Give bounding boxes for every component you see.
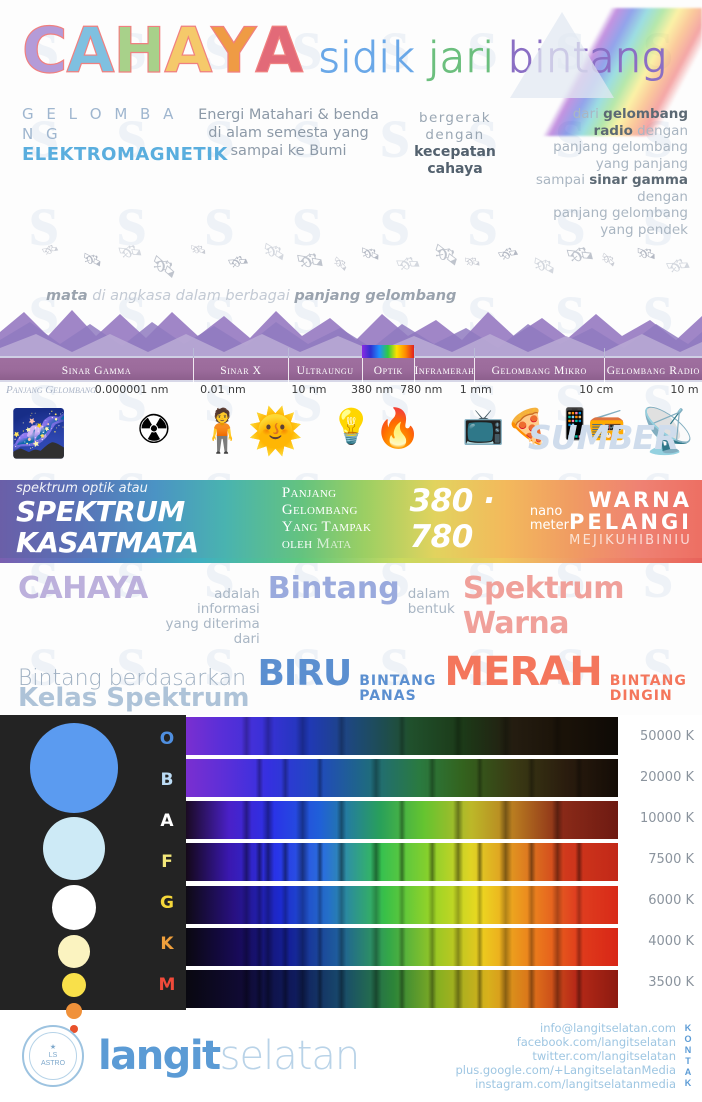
em-band-gelombang-mikro: Gelombang mikro bbox=[474, 358, 604, 384]
contact-line[interactable]: instagram.com/langitselatanmedia bbox=[455, 1077, 676, 1091]
subtitle-word-1: jari bbox=[428, 33, 508, 82]
satellites-band: mata di angkasa dalam berbagai panjang g… bbox=[0, 240, 702, 312]
stmt-bintang-panas: BINTANG PANAS bbox=[359, 674, 436, 704]
wavelength-tick: 0.000001 nm bbox=[95, 383, 169, 396]
intro-col-energi: Energi Matahari & benda di alam semesta … bbox=[196, 104, 381, 238]
brand-logo: langitselatan bbox=[98, 1035, 359, 1077]
visible-spectrum-banner: spektrum optik atau SPEKTRUM KASATMATA P… bbox=[0, 480, 702, 558]
em-tick bbox=[193, 348, 194, 358]
satellite-icon: 🛰 bbox=[294, 246, 326, 277]
title-letter-4: Y bbox=[211, 20, 255, 82]
wavelength-tick: 0.01 nm bbox=[200, 383, 246, 396]
satellite-icon: 🛰 bbox=[429, 238, 463, 271]
satellite-icon: 🛰 bbox=[329, 253, 351, 275]
stmt-kelas-block: Bintang berdasarkan Kelas Spektrum bbox=[18, 667, 249, 711]
wavelength-tick: 10 cm bbox=[579, 383, 613, 396]
satellite-icon: 🛰 bbox=[81, 249, 104, 271]
nanometer-unit: nano meter bbox=[530, 505, 569, 533]
em-spectrum-bar: Sinar GammaSinar XUltraunguOptikInframer… bbox=[0, 356, 702, 382]
langitselatan-seal-logo: ★LSASTRO bbox=[22, 1025, 84, 1087]
temperature-label-M: 3500 K bbox=[648, 975, 694, 990]
warna-pelangi-block: WARNA PELANGI MEJIKUHIBINIU bbox=[569, 489, 692, 549]
stmt-biru: BIRU bbox=[257, 653, 351, 694]
spektrum-kasatmata-label: SPEKTRUM KASATMATA bbox=[16, 496, 272, 558]
satellite-icon: 🛰 bbox=[115, 237, 145, 267]
gelombang-label: G E L O M B A N G bbox=[22, 104, 182, 144]
intro-col-em: G E L O M B A N G ELEKTROMAGNETIK bbox=[22, 104, 182, 238]
contact-line[interactable]: facebook.com/langitselatan bbox=[455, 1035, 676, 1049]
intro-col-range: dari gelombang radio dengan panjang gelo… bbox=[529, 104, 688, 238]
em-band-optik: Optik bbox=[362, 358, 415, 384]
absorption-lines bbox=[186, 843, 618, 881]
footer: ★LSASTRO langitselatan info@langitselata… bbox=[0, 1010, 702, 1102]
contact-list: info@langitselatan.comfacebook.com/langi… bbox=[455, 1021, 676, 1091]
source-icon: 🌌 bbox=[10, 410, 67, 456]
statement-row-2: Bintang berdasarkan Kelas Spektrum BIRU … bbox=[18, 649, 694, 711]
star-size-column bbox=[0, 715, 148, 1010]
star-size-circle bbox=[58, 935, 90, 968]
mata-bold: mata bbox=[46, 288, 88, 304]
brand-langit: langit bbox=[98, 1033, 220, 1079]
optical-mini-spectrum bbox=[362, 345, 414, 358]
stmt-kelas-spektrum: Kelas Spektrum bbox=[18, 685, 249, 711]
bergerak-text: bergerak dengan bbox=[395, 110, 515, 144]
wavelength-tick: 10 nm bbox=[291, 383, 326, 396]
absorption-lines bbox=[186, 886, 618, 924]
visible-range-value: 380 · 780 bbox=[410, 483, 522, 555]
page-subtitle: sidik jari bintang bbox=[318, 37, 666, 79]
kontak-letter: O bbox=[682, 1034, 694, 1045]
range-line4: panjang gelombang yang pendek bbox=[529, 205, 688, 238]
satellite-icon: 🛰 bbox=[636, 244, 657, 264]
statement-row-1: CAHAYA adalah informasi yang diterima da… bbox=[18, 571, 694, 647]
satellite-icon: 🛰 bbox=[260, 238, 289, 266]
stmt-bintang: Bintang bbox=[268, 571, 400, 606]
absorption-lines bbox=[186, 970, 618, 1008]
satellite-icon: 🛰 bbox=[190, 242, 207, 259]
star-size-circle bbox=[43, 817, 105, 880]
title-letter-2: H bbox=[114, 20, 165, 82]
class-letter-column: OBAFGKM bbox=[148, 715, 186, 1010]
em-tick bbox=[604, 348, 605, 358]
sumber-watermark: SUMBER bbox=[528, 418, 679, 457]
spectrum-row-G bbox=[186, 886, 618, 924]
temperature-column: 50000 K20000 K10000 K7500 K6000 K4000 K3… bbox=[618, 715, 702, 1010]
range-line2: panjang gelombang yang panjang bbox=[529, 139, 688, 172]
spectrum-row-F bbox=[186, 843, 618, 881]
prism-icon bbox=[510, 12, 614, 98]
kontak-letter: K bbox=[682, 1023, 694, 1034]
kecepatan-cahaya-text: kecepatan cahaya bbox=[414, 144, 496, 177]
class-letter-F: F bbox=[148, 852, 186, 872]
kontak-vertical-label: KONTAK bbox=[682, 1023, 694, 1089]
stmt-spektrum-warna: Spektrum Warna bbox=[463, 571, 694, 641]
title-letter-1: A bbox=[67, 20, 114, 82]
elektromagnetik-label: ELEKTROMAGNETIK bbox=[22, 144, 182, 165]
absorption-lines bbox=[186, 717, 618, 755]
temperature-label-A: 10000 K bbox=[640, 811, 694, 826]
satellite-icon: 🛰 bbox=[393, 249, 424, 280]
source-icon: 🔥 bbox=[374, 410, 421, 448]
spectrum-row-O bbox=[186, 717, 618, 755]
em-band-sinar-gamma: Sinar Gamma bbox=[0, 358, 193, 384]
em-tick bbox=[288, 348, 289, 358]
source-icon: ☢ bbox=[136, 410, 172, 450]
star-size-circle bbox=[30, 723, 118, 813]
wavelength-title: Panjang Gelombang bbox=[6, 384, 96, 396]
spectrum-row-B bbox=[186, 759, 618, 797]
em-band-inframerah: Inframerah bbox=[414, 358, 474, 384]
statement-block: CAHAYA adalah informasi yang diterima da… bbox=[0, 563, 702, 715]
star-size-circle bbox=[52, 885, 96, 930]
wavelength-row: Panjang Gelombang 0.000001 nm0.01 nm10 n… bbox=[0, 382, 702, 402]
stmt-merah: MERAH bbox=[444, 649, 601, 695]
absorption-lines bbox=[186, 759, 618, 797]
em-tick bbox=[474, 348, 475, 358]
temperature-label-O: 50000 K bbox=[640, 729, 694, 744]
stmt-bintang-dingin: BINTANG DINGIN bbox=[610, 674, 687, 704]
brand-selatan: selatan bbox=[220, 1033, 360, 1079]
temperature-label-F: 7500 K bbox=[648, 852, 694, 867]
title-letter-0: C bbox=[22, 20, 67, 82]
title-letter-3: A bbox=[164, 20, 211, 82]
source-icon: 📺 bbox=[462, 410, 504, 444]
pelangi-label: PELANGI bbox=[569, 511, 692, 533]
mnemonic-label: MEJIKUHIBINIU bbox=[569, 533, 692, 549]
absorption-lines bbox=[186, 928, 618, 966]
satellite-icon: 🛰 bbox=[494, 240, 521, 267]
banner-wavelength-desc: Panjang Gelombang Yang Tampak oleh Mata bbox=[282, 485, 398, 553]
stmt-dalam-bentuk: dalam bentuk bbox=[408, 587, 455, 617]
mountain-waves bbox=[0, 306, 702, 358]
kontak-letter: A bbox=[682, 1067, 694, 1078]
header: CAHAYA sidik jari bintang bbox=[0, 0, 702, 100]
sinar-gamma-text: sinar gamma bbox=[589, 172, 688, 188]
spectrum-row-K bbox=[186, 928, 618, 966]
satellite-icon: 🛰 bbox=[225, 249, 252, 276]
spectral-class-chart: OBAFGKM 50000 K20000 K10000 K7500 K6000 … bbox=[0, 715, 702, 1010]
temperature-label-K: 4000 K bbox=[648, 934, 694, 949]
wavelength-tick: 10 m bbox=[670, 383, 698, 396]
panjang-gelombang-label: Panjang Gelombang bbox=[282, 485, 398, 519]
source-icons-row: SUMBER 🌌☢🧍🌞💡🔥📺🍕📱📻📡 bbox=[0, 402, 702, 474]
class-letter-B: B bbox=[148, 770, 186, 790]
temperature-label-G: 6000 K bbox=[648, 893, 694, 908]
em-tick bbox=[414, 348, 415, 358]
absorption-lines bbox=[186, 801, 618, 839]
satellite-icon: 🛰 bbox=[598, 249, 619, 270]
kontak-letter: K bbox=[682, 1078, 694, 1089]
title-letter-5: A bbox=[255, 20, 302, 82]
spectrum-rows bbox=[186, 715, 618, 1010]
em-spectrum: Sinar GammaSinar XUltraunguOptikInframer… bbox=[0, 356, 702, 402]
kontak-letter: T bbox=[682, 1056, 694, 1067]
contact-line[interactable]: info@langitselatan.com bbox=[455, 1021, 676, 1035]
satellite-icon: 🛰 bbox=[39, 239, 61, 261]
satellite-icon: 🛰 bbox=[146, 250, 181, 284]
source-icon: 🧍 bbox=[196, 410, 248, 452]
temperature-label-B: 20000 K bbox=[640, 770, 694, 785]
spectrum-row-A bbox=[186, 801, 618, 839]
contact-line[interactable]: twitter.com/langitselatan bbox=[455, 1049, 676, 1063]
sampai-text: sampai bbox=[536, 172, 589, 188]
satellite-icon: 🛰 bbox=[463, 253, 481, 271]
star-size-circle bbox=[62, 973, 86, 997]
panjang-gelombang-bold: panjang gelombang bbox=[294, 288, 456, 304]
spektrum-optik-label: spektrum optik atau bbox=[16, 481, 272, 496]
contact-line[interactable]: plus.google.com/+LangitselatanMedia bbox=[455, 1063, 676, 1077]
source-icon: 🌞 bbox=[248, 410, 303, 454]
satellite-icon: 🛰 bbox=[530, 252, 557, 279]
satellite-icon: 🛰 bbox=[359, 243, 380, 264]
class-letter-K: K bbox=[148, 934, 186, 954]
dari-text: dari bbox=[573, 106, 603, 122]
mountain-svg bbox=[0, 306, 702, 358]
class-letter-O: O bbox=[148, 729, 186, 749]
source-icon: 💡 bbox=[330, 410, 372, 444]
satellite-caption: mata di angkasa dalam berbagai panjang g… bbox=[46, 288, 456, 304]
intro-columns: G E L O M B A N G ELEKTROMAGNETIK Energi… bbox=[0, 100, 702, 238]
class-letter-A: A bbox=[148, 811, 186, 831]
satellite-icon: 🛰 bbox=[563, 239, 597, 271]
warna-label: WARNA bbox=[569, 489, 692, 511]
stmt-cahaya: CAHAYA bbox=[18, 571, 148, 606]
intro-col-kecepatan: bergerak dengan kecepatan cahaya bbox=[395, 104, 515, 238]
em-band-sinar-x: Sinar X bbox=[193, 358, 288, 384]
em-band-ultraungu: Ultraungu bbox=[288, 358, 362, 384]
banner-title-block: spektrum optik atau SPEKTRUM KASATMATA bbox=[16, 481, 272, 558]
class-letter-M: M bbox=[148, 975, 186, 995]
kontak-letter: N bbox=[682, 1045, 694, 1056]
infographic-page: ssssssssssssssssssssssssssssssssssssssss… bbox=[0, 0, 702, 1000]
page-title: CAHAYA bbox=[22, 20, 302, 82]
stmt-adalah: adalah informasi yang diterima dari bbox=[156, 587, 260, 647]
class-letter-G: G bbox=[148, 893, 186, 913]
wavelength-tick: 1 mm bbox=[460, 383, 492, 396]
subtitle-word-0: sidik bbox=[318, 33, 428, 82]
seal-text: ★LSASTRO bbox=[41, 1044, 65, 1068]
em-band-gelombang-radio: Gelombang radio bbox=[604, 358, 702, 384]
satellite-icon: 🛰 bbox=[662, 250, 694, 282]
wavelength-tick: 380 nm bbox=[351, 383, 393, 396]
wavelength-tick: 780 nm bbox=[400, 383, 442, 396]
spectrum-row-M bbox=[186, 970, 618, 1008]
